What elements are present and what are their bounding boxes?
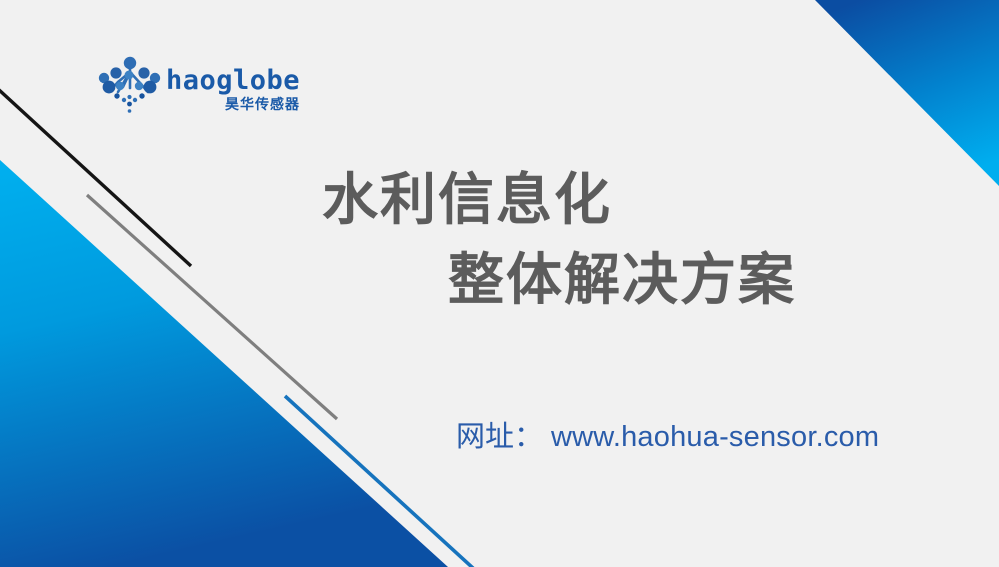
title-slide: haoglobe 昊华传感器 水利信息化 整体解决方案 网址： www.haoh… [0,0,999,567]
logo-wordmark: haoglobe [166,65,300,96]
slide-title-line-2: 整体解决方案 [300,240,880,320]
website-label: 网址： [456,420,543,455]
haoglobe-logo[interactable]: haoglobe 昊华传感器 [96,56,311,118]
top-right-blue-triangle [815,0,999,186]
logo-subtitle: 昊华传感器 [225,96,300,112]
slide-title-line-1: 水利信息化 [300,160,880,240]
website-line: 网址： www.haohua-sensor.com [456,420,879,455]
website-url[interactable]: www.haohua-sensor.com [551,420,879,455]
slide-title: 水利信息化 整体解决方案 [300,160,880,319]
network-dots-icon [99,57,160,113]
